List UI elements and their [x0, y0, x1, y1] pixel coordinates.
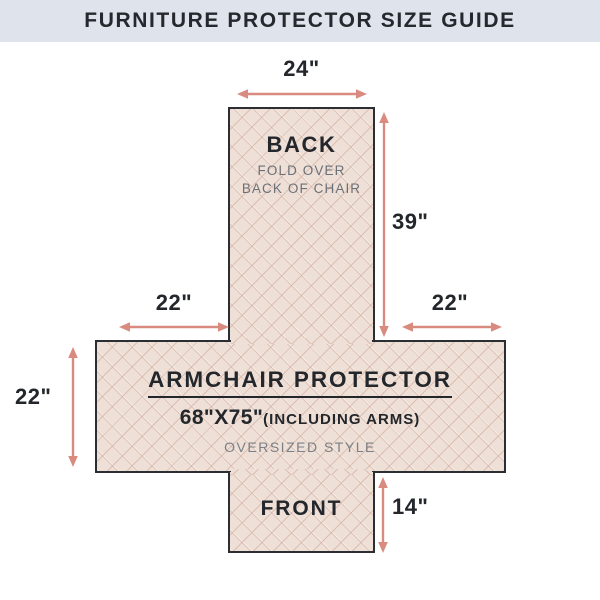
dimension-label-arm-right: 22"	[395, 290, 505, 316]
front-arm-seam	[231, 469, 372, 475]
dimension-label-back-height: 39"	[392, 209, 428, 235]
dimension-arrow-arm-depth	[67, 347, 79, 467]
dimension-arrow-arm-right	[402, 321, 502, 333]
dimension-arrow-front-height	[377, 477, 389, 553]
dimension-label-back-width: 24"	[228, 56, 375, 82]
product-dimensions-value: 68"X75"	[180, 406, 263, 429]
dimension-label-arm-left: 22"	[119, 290, 229, 316]
product-dimensions-note: (INCLUDING ARMS)	[263, 411, 420, 428]
dimension-arrow-back-width	[237, 88, 367, 100]
back-panel-sublabel: FOLD OVER BACK OF CHAIR	[213, 162, 390, 198]
product-title: ARMCHAIR PROTECTOR	[148, 367, 452, 398]
dimension-arrow-back-height	[378, 112, 390, 337]
back-arm-seam	[231, 338, 372, 344]
center-label-block: ARMCHAIR PROTECTOR 68"X75"(INCLUDING ARM…	[80, 367, 520, 455]
dimension-label-front-height: 14"	[392, 494, 428, 520]
size-guide-diagram: BACK FOLD OVER BACK OF CHAIR ARMCHAIR PR…	[0, 42, 600, 600]
header-band: FURNITURE PROTECTOR SIZE GUIDE	[0, 0, 600, 42]
page-title: FURNITURE PROTECTOR SIZE GUIDE	[84, 9, 515, 33]
back-panel-sublabel-line1: FOLD OVER	[213, 162, 390, 180]
dimension-arrow-arm-left	[119, 321, 229, 333]
back-panel-sublabel-line2: BACK OF CHAIR	[213, 180, 390, 198]
product-style: OVERSIZED STYLE	[80, 439, 520, 455]
product-dimensions: 68"X75"(INCLUDING ARMS)	[80, 406, 520, 430]
dimension-label-arm-depth: 22"	[15, 384, 51, 410]
back-panel-label: BACK	[228, 132, 375, 158]
front-panel-label: FRONT	[228, 497, 375, 521]
